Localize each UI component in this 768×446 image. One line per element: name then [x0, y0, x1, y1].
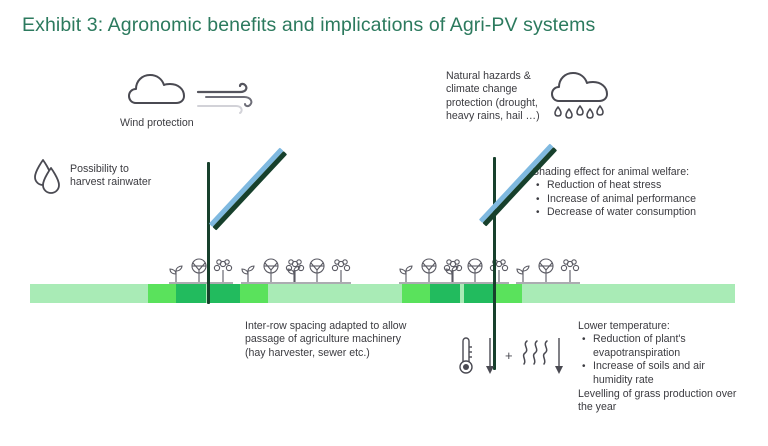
band-patch-mid-1: [148, 284, 176, 303]
cloud-icon: [128, 72, 190, 106]
band-patch-dark-1: [176, 284, 206, 303]
spacing-text-block: Inter-row spacing adapted to allow passa…: [245, 320, 430, 360]
plus-sign: +: [505, 349, 513, 362]
shading-heading: Shading effect for animal welfare:: [532, 166, 737, 179]
hazards-text: Natural hazards & climate change protect…: [446, 70, 558, 124]
humidity-waves-icon: [520, 339, 556, 371]
band-patch-dark-2: [210, 284, 240, 303]
spacing-line-1: Inter-row spacing adapted to allow: [245, 320, 430, 333]
rainwater-line-1: Possibility to: [70, 163, 190, 176]
band-patch-dark-4: [464, 284, 494, 303]
rainwater-text: Possibility to harvest rainwater: [70, 163, 190, 190]
temperature-footnote: Levelling of grass production over the y…: [578, 388, 738, 415]
hazards-line-2: climate change: [446, 83, 558, 96]
panel-glass-left: [209, 148, 284, 227]
shading-text-block: Shading effect for animal welfare: Reduc…: [532, 166, 737, 220]
temperature-bullet-list: Reduction of plant's evapotranspiration …: [578, 333, 738, 387]
shading-bullet-1: Reduction of heat stress: [547, 179, 737, 192]
ground-band: [30, 284, 735, 303]
plant-row-6: [514, 258, 582, 282]
spacing-line-2: passage of agriculture machinery: [245, 333, 430, 346]
wind-protection-label: Wind protection: [120, 117, 194, 130]
solar-panel-left: [209, 148, 287, 231]
temperature-text-block: Lower temperature: Reduction of plant's …: [578, 320, 738, 415]
plant-row-3: [285, 258, 353, 282]
band-patch-mid-4: [494, 284, 522, 303]
water-droplets-icon: [32, 158, 64, 194]
shading-bullet-list: Reduction of heat stress Increase of ani…: [532, 179, 737, 219]
shading-bullet-2: Increase of animal performance: [547, 193, 737, 206]
rainwater-line-2: harvest rainwater: [70, 176, 190, 189]
shading-bullet-3: Decrease of water consumption: [547, 206, 737, 219]
hazards-line-3: protection (drought,: [446, 97, 558, 110]
band-patch-mid-2: [240, 284, 268, 303]
exhibit-canvas: Exhibit 3: Agronomic benefits and implic…: [0, 0, 768, 446]
spacing-line-3: (hay harvester, sewer etc.): [245, 347, 430, 360]
down-arrow-icon: [484, 338, 496, 376]
thermometer-icon: [455, 337, 477, 377]
hazards-line-4: heavy rains, hail …): [446, 110, 558, 123]
band-patch-mid-3: [402, 284, 430, 303]
post-left: [207, 162, 210, 304]
plant-row-5: [443, 258, 511, 282]
wind-lines-icon: [196, 80, 258, 116]
page-title: Exhibit 3: Agronomic benefits and implic…: [22, 14, 595, 37]
hazards-line-1: Natural hazards &: [446, 70, 558, 83]
temperature-bullet-2: Increase of soils and air humidity rate: [593, 360, 738, 387]
plant-row-1: [167, 258, 235, 282]
panel-frame-left: [213, 151, 287, 230]
temperature-heading: Lower temperature:: [578, 320, 738, 333]
down-arrow-icon-2: [553, 338, 565, 376]
band-patch-dark-3: [430, 284, 460, 303]
temperature-bullet-1: Reduction of plant's evapotranspiration: [593, 333, 738, 360]
rain-cloud-icon: [550, 70, 612, 122]
